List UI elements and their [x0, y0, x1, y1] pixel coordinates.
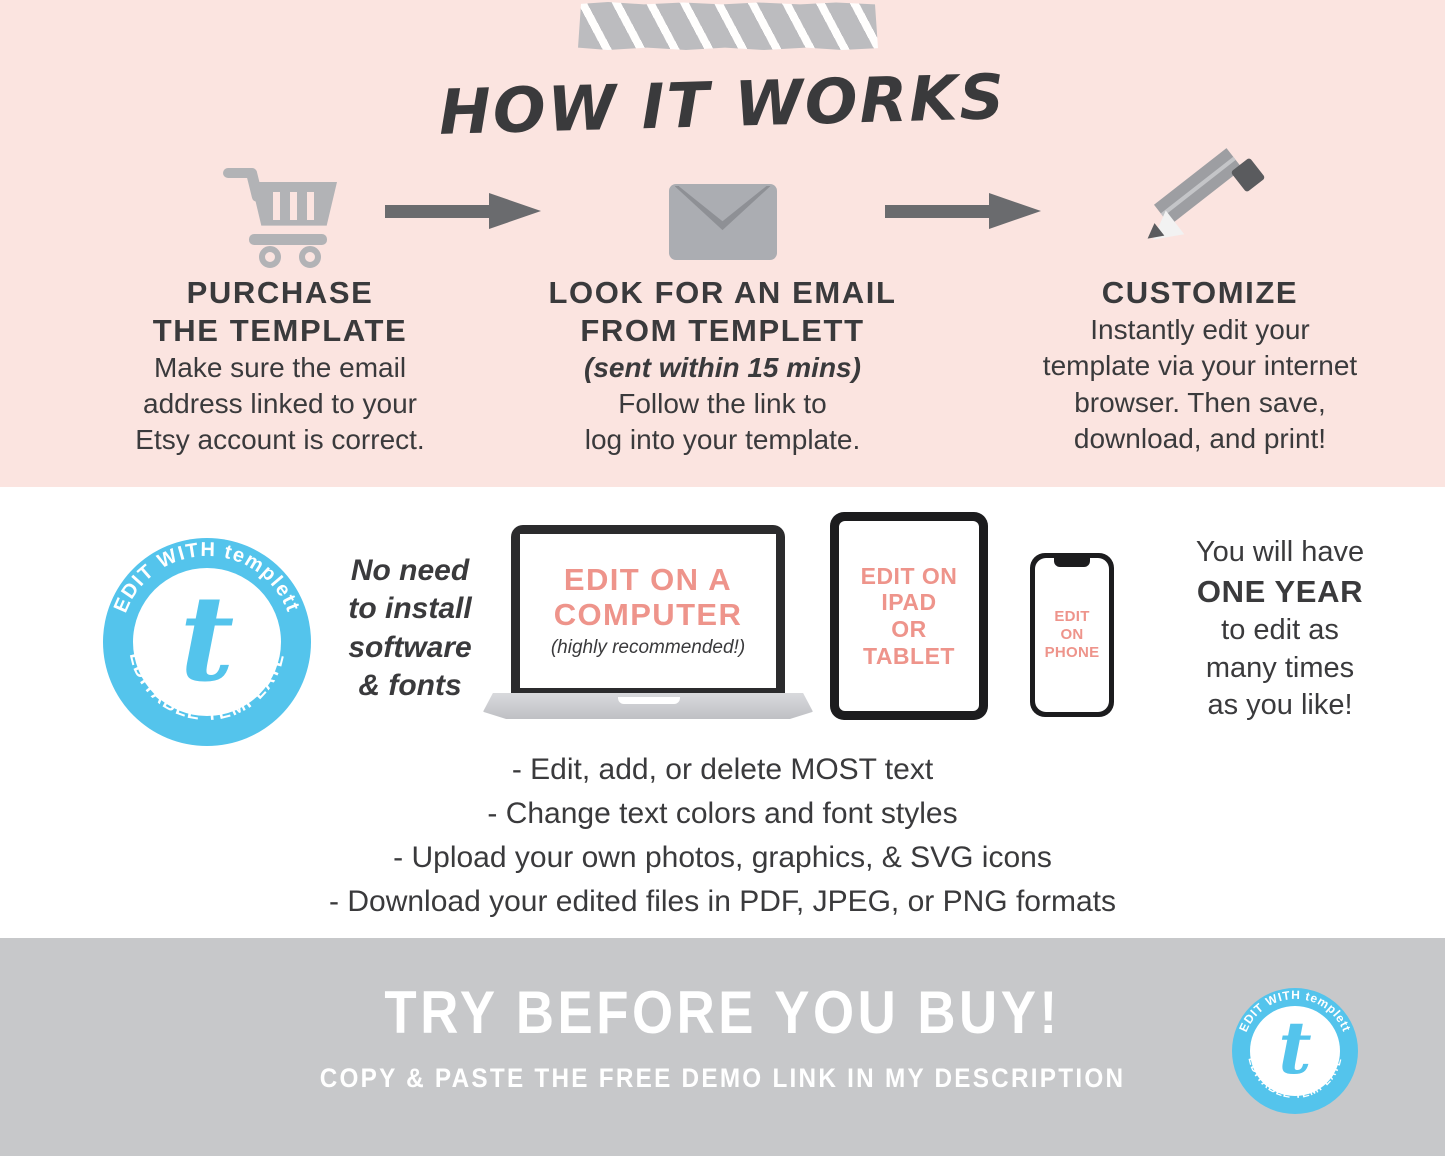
templett-badge-footer: t EDIT WITH templett EDITABLE TEMPLATE	[1232, 988, 1358, 1114]
no-need-line2: to install	[330, 590, 490, 628]
tablet-label: EDIT ON IPAD OR TABLET	[861, 563, 958, 670]
step-body-line2: log into your template.	[510, 422, 935, 458]
tablet-frame: EDIT ON IPAD OR TABLET	[830, 512, 988, 720]
list-item: - Change text colors and font styles	[0, 792, 1445, 836]
step-heading: PURCHASE THE TEMPLATE	[100, 274, 460, 350]
cart-slot	[273, 192, 280, 220]
shopping-cart-icon	[221, 160, 339, 260]
step-body-line2: address linked to your	[100, 386, 460, 422]
list-item: - Download your edited files in PDF, JPE…	[0, 880, 1445, 924]
laptop-trackpad-notch	[618, 697, 680, 704]
tablet-device: EDIT ON IPAD OR TABLET	[830, 512, 988, 720]
no-need-text: No need to install software & fonts	[330, 552, 490, 706]
step-icon-slot	[990, 150, 1410, 260]
templett-badge: t EDIT WITH templett EDITABLE TEMPLATE	[103, 538, 311, 746]
phone-device: EDIT ON PHONE	[1030, 553, 1114, 717]
page-title: HOW IT WORKS	[0, 48, 1445, 161]
step-look-for-email: LOOK FOR AN EMAIL FROM TEMPLETT (sent wi…	[510, 150, 935, 459]
no-need-line1: No need	[330, 552, 490, 590]
step-body: Instantly edit your template via your in…	[990, 312, 1410, 458]
cart-bottom-bar	[249, 234, 327, 245]
step-italic-note: (sent within 15 mins)	[510, 350, 935, 386]
step-body-line4: download, and print!	[990, 421, 1410, 457]
svg-text:EDIT WITH templett: EDIT WITH templett	[110, 539, 304, 616]
svg-text:EDIT WITH templett: EDIT WITH templett	[1236, 988, 1354, 1034]
one-year-line2: to edit as	[1125, 612, 1435, 650]
badge-top-text: EDIT WITH templett	[110, 539, 304, 616]
badge-top-text: EDIT WITH templett	[1236, 988, 1354, 1034]
laptop-note: (highly recommended!)	[551, 637, 745, 659]
step-body-line1: Follow the link to	[510, 386, 935, 422]
badge-bottom-text: EDITABLE TEMPLATE	[1245, 1056, 1344, 1101]
no-need-line4: & fonts	[330, 667, 490, 705]
how-it-works-section: HOW IT WORKS PURCHASE THE TEMPLATE	[0, 0, 1445, 487]
badge-ring-text: EDIT WITH templett EDITABLE TEMPLATE	[103, 538, 311, 746]
step-body-line1: Instantly edit your	[990, 312, 1410, 348]
tablet-screen: EDIT ON IPAD OR TABLET	[839, 521, 979, 711]
one-year-line3: many times	[1125, 650, 1435, 688]
phone-screen: EDIT ON PHONE	[1035, 558, 1109, 712]
one-year-highlight: ONE YEAR	[1125, 572, 1435, 612]
phone-frame: EDIT ON PHONE	[1030, 553, 1114, 717]
step-body-line3: Etsy account is correct.	[100, 422, 460, 458]
pencil-icon	[1140, 160, 1260, 260]
no-need-line3: software	[330, 629, 490, 667]
step-icon-slot	[100, 150, 460, 260]
cart-slot	[290, 192, 297, 220]
one-year-line4: as you like!	[1125, 687, 1435, 725]
step-heading: CUSTOMIZE	[990, 274, 1410, 312]
one-year-text: You will have ONE YEAR to edit as many t…	[1125, 534, 1435, 725]
laptop-device: EDIT ON A COMPUTER (highly recommended!)	[483, 525, 813, 735]
feature-list: - Edit, add, or delete MOST text - Chang…	[0, 748, 1445, 924]
step-heading: LOOK FOR AN EMAIL FROM TEMPLETT	[510, 274, 935, 350]
phone-label: EDIT ON PHONE	[1045, 608, 1100, 662]
step-heading-line2: FROM TEMPLETT	[510, 312, 935, 350]
step-icon-slot	[510, 150, 935, 260]
badge-ring-text: EDIT WITH templett EDITABLE TEMPLATE	[1232, 988, 1358, 1114]
cart-wheel	[299, 246, 321, 268]
try-before-you-buy-footer: TRY BEFORE YOU BUY! COPY & PASTE THE FRE…	[0, 938, 1445, 1156]
step-body: Follow the link to log into your templat…	[510, 386, 935, 459]
laptop-label-line1: EDIT ON A	[554, 563, 743, 598]
cart-wheel	[259, 246, 281, 268]
phone-notch	[1054, 558, 1090, 567]
svg-text:EDITABLE TEMPLATE: EDITABLE TEMPLATE	[1245, 1056, 1344, 1101]
cart-slot	[307, 192, 314, 220]
step-heading-line1: CUSTOMIZE	[990, 274, 1410, 312]
step-customize: CUSTOMIZE Instantly edit your template v…	[990, 150, 1410, 457]
footer-subtitle: COPY & PASTE THE FREE DEMO LINK IN MY DE…	[72, 1063, 1373, 1094]
list-item: - Edit, add, or delete MOST text	[0, 748, 1445, 792]
laptop-lid: EDIT ON A COMPUTER (highly recommended!)	[511, 525, 785, 697]
laptop-label: EDIT ON A COMPUTER	[554, 563, 743, 632]
step-body-line2: template via your internet	[990, 348, 1410, 384]
step-body-line1: Make sure the email	[100, 350, 460, 386]
step-body: Make sure the email address linked to yo…	[100, 350, 460, 459]
svg-text:EDITABLE TEMPLATE: EDITABLE TEMPLATE	[126, 650, 288, 724]
envelope-icon	[669, 184, 777, 260]
step-purchase: PURCHASE THE TEMPLATE Make sure the emai…	[100, 150, 460, 459]
laptop-screen: EDIT ON A COMPUTER (highly recommended!)	[520, 534, 776, 688]
badge-bottom-text: EDITABLE TEMPLATE	[126, 650, 288, 724]
step-heading-line1: LOOK FOR AN EMAIL	[510, 274, 935, 312]
pencil-highlight	[1161, 157, 1236, 217]
footer-title: TRY BEFORE YOU BUY!	[87, 978, 1359, 1047]
washi-tape-icon	[578, 2, 878, 50]
step-heading-line2: THE TEMPLATE	[100, 312, 460, 350]
step-heading-line1: PURCHASE	[100, 274, 460, 312]
laptop-label-line2: COMPUTER	[554, 598, 743, 633]
step-body-line3: browser. Then save,	[990, 385, 1410, 421]
one-year-line1: You will have	[1125, 534, 1435, 572]
list-item: - Upload your own photos, graphics, & SV…	[0, 836, 1445, 880]
